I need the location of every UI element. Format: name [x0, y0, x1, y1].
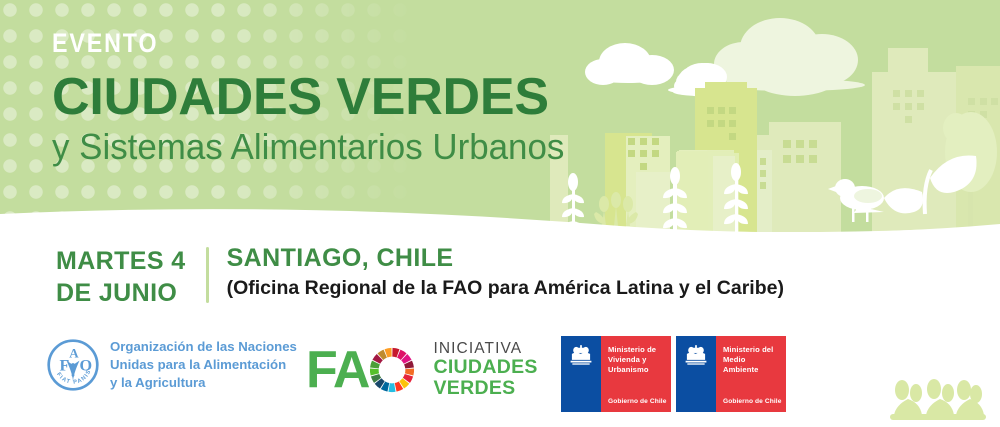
icv-word-verdes: VERDES: [433, 378, 537, 399]
date-line-1: MARTES 4: [56, 245, 186, 277]
event-banner: EVENTO CIUDADES VERDES y Sistemas Alimen…: [0, 0, 1000, 427]
mma-title: Ministerio del Medio Ambiente: [723, 345, 773, 375]
event-details: MARTES 4 DE JUNIO SANTIAGO, CHILE (Ofici…: [56, 243, 784, 309]
sdg-wheel-icon: [369, 347, 415, 393]
minvu-title-line-2: Vivienda y: [608, 355, 656, 365]
location-venue: (Oficina Regional de la FAO para América…: [227, 276, 784, 300]
minvu-red-panel: Ministerio de Vivienda y Urbanismo Gobie…: [601, 336, 671, 412]
sdg-wheel-segment: [389, 383, 396, 392]
building: [705, 82, 747, 94]
chile-coat-of-arms-icon: [683, 345, 709, 367]
icv-word-iniciativa: INICIATIVA: [433, 340, 537, 357]
building: [769, 122, 841, 232]
fao-un-logo: F A O FIAT PANIS Organización de las Nac…: [46, 338, 297, 392]
mma-logo: Ministerio del Medio Ambiente Gobierno d…: [676, 336, 786, 412]
page-subtitle: y Sistemas Alimentarios Urbanos: [52, 126, 564, 168]
fao-name-line-1: Organización de las Naciones: [110, 338, 297, 356]
svg-text:F: F: [60, 356, 70, 374]
fao-emblem-icon: F A O FIAT PANIS: [46, 338, 100, 392]
mma-crest-panel: [676, 336, 716, 412]
building: [888, 48, 928, 78]
hero-section: EVENTO CIUDADES VERDES y Sistemas Alimen…: [0, 0, 1000, 232]
event-date: MARTES 4 DE JUNIO: [56, 243, 186, 309]
green-cities-initiative-logo: FA INICIATIVA CIUDADES VERDES: [306, 340, 538, 400]
date-line-2: DE JUNIO: [56, 277, 186, 309]
mma-title-line-1: Ministerio del: [723, 345, 773, 355]
minvu-logo: Ministerio de Vivienda y Urbanismo Gobie…: [561, 336, 671, 412]
page-title: CIUDADES VERDES: [52, 70, 580, 124]
fao-name-line-2: Unidas para la Alimentación: [110, 356, 297, 374]
event-location: SANTIAGO, CHILE (Oficina Regional de la …: [227, 243, 784, 300]
icv-fa-letters: FA: [306, 349, 368, 392]
cloud-small-top: [585, 43, 674, 85]
mma-red-panel: Ministerio del Medio Ambiente Gobierno d…: [716, 336, 786, 412]
mma-footer: Gobierno de Chile: [723, 398, 781, 405]
headline-block: EVENTO CIUDADES VERDES y Sistemas Alimen…: [52, 30, 580, 169]
icv-wordmark: FA: [306, 347, 415, 393]
eyebrow-label: EVENTO: [52, 30, 506, 57]
minvu-title-line-1: Ministerio de: [608, 345, 656, 355]
mma-title-line-2: Medio: [723, 355, 773, 365]
minvu-crest-panel: [561, 336, 601, 412]
location-city: SANTIAGO, CHILE: [227, 243, 784, 273]
white-hill-fill: [0, 209, 1000, 232]
minvu-title: Ministerio de Vivienda y Urbanismo: [608, 345, 656, 375]
mma-title-line-3: Ambiente: [723, 365, 773, 375]
icv-word-ciudades: CIUDADES: [433, 357, 537, 378]
fao-name-line-3: y la Agricultura: [110, 374, 297, 392]
chile-coat-of-arms-icon: [568, 345, 594, 367]
wheat-stalk: [673, 176, 676, 232]
vertical-divider: [206, 247, 209, 303]
svg-text:A: A: [69, 345, 79, 360]
minvu-title-line-3: Urbanismo: [608, 365, 656, 375]
logo-strip: F A O FIAT PANIS Organización de las Nac…: [0, 330, 1000, 420]
seedling-tray-decoration: [872, 377, 992, 423]
minvu-footer: Gobierno de Chile: [608, 398, 666, 405]
icv-text-block: INICIATIVA CIUDADES VERDES: [433, 340, 537, 400]
fao-organization-name: Organización de las Naciones Unidas para…: [110, 338, 297, 392]
